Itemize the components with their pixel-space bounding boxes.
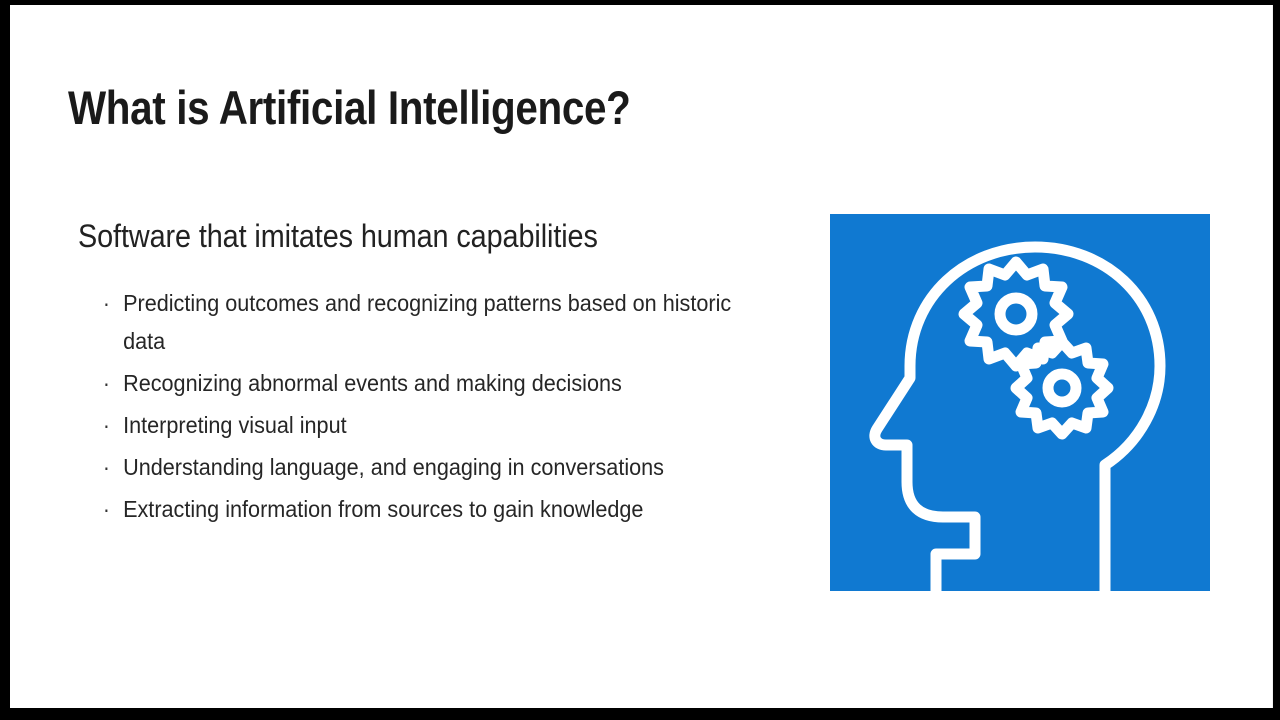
bullet-dot-icon: · [103, 448, 123, 486]
list-item: · Interpreting visual input [78, 406, 750, 444]
bullet-dot-icon: · [103, 284, 123, 322]
bullet-list: · Predicting outcomes and recognizing pa… [78, 284, 808, 528]
list-item-label: Understanding language, and engaging in … [123, 448, 664, 486]
list-item-label: Predicting outcomes and recognizing patt… [123, 284, 750, 360]
list-item-label: Interpreting visual input [123, 406, 347, 444]
bullet-dot-icon: · [103, 490, 123, 528]
slide-canvas: What is Artificial Intelligence? Softwar… [10, 5, 1273, 708]
list-item-label: Recognizing abnormal events and making d… [123, 364, 622, 402]
bullet-dot-icon: · [103, 364, 123, 402]
bullet-dot-icon: · [103, 406, 123, 444]
list-item-label: Extracting information from sources to g… [123, 490, 643, 528]
slide-body-column: Software that imitates human capabilitie… [78, 217, 808, 532]
list-item: · Understanding language, and engaging i… [78, 448, 750, 486]
head-with-gears-icon [830, 214, 1210, 591]
list-item: · Predicting outcomes and recognizing pa… [78, 284, 750, 360]
slide-letterbox-frame: What is Artificial Intelligence? Softwar… [0, 0, 1280, 720]
list-item: · Recognizing abnormal events and making… [78, 364, 750, 402]
lead-statement: Software that imitates human capabilitie… [78, 217, 735, 255]
list-item: · Extracting information from sources to… [78, 490, 750, 528]
page-title: What is Artificial Intelligence? [68, 82, 630, 134]
